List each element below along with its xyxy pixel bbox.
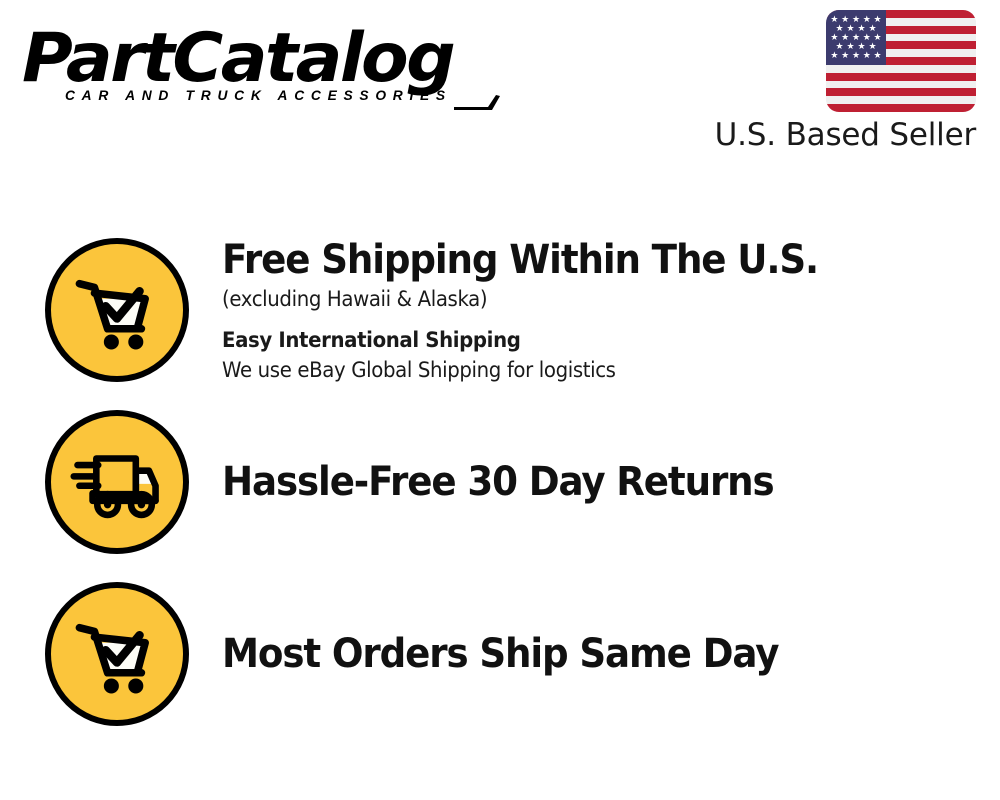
feature-text: Most Orders Ship Same Day xyxy=(222,630,1000,678)
us-flag-icon: ★★★★★ ★★★★ ★★★★★ ★★★★ ★★★★★ xyxy=(826,10,976,112)
feature-row: Hassle-Free 30 Day Returns xyxy=(0,408,1000,556)
us-based-seller-badge: ★★★★★ ★★★★ ★★★★★ ★★★★ ★★★★★ U.S. Based S… xyxy=(716,10,988,160)
shopping-cart-check-icon xyxy=(45,238,189,382)
feature-title: Hassle-Free 30 Day Returns xyxy=(222,458,927,506)
feature-subtitle: Easy International Shipping xyxy=(222,325,935,355)
feature-subtitle: We use eBay Global Shipping for logistic… xyxy=(222,355,935,385)
brand-swoosh-icon xyxy=(452,94,502,112)
brand-logo[interactable]: PartCatalog CAR AND TRUCK ACCESSORIES xyxy=(22,22,492,118)
feature-text: Hassle-Free 30 Day Returns xyxy=(222,458,1000,506)
feature-row: Free Shipping Within The U.S. (excluding… xyxy=(0,236,1000,384)
brand-tagline: CAR AND TRUCK ACCESSORIES xyxy=(65,88,452,103)
flag-star-row: ★★★★★ xyxy=(829,51,883,60)
feature-title: Free Shipping Within The U.S. xyxy=(222,236,927,284)
feature-text: Free Shipping Within The U.S. (excluding… xyxy=(222,236,1000,385)
feature-list: Free Shipping Within The U.S. (excluding… xyxy=(0,236,1000,752)
delivery-truck-icon xyxy=(45,410,189,554)
feature-subtitle: (excluding Hawaii & Alaska) xyxy=(222,284,935,314)
page-header: PartCatalog CAR AND TRUCK ACCESSORIES xyxy=(0,0,1000,180)
feature-title: Most Orders Ship Same Day xyxy=(222,630,927,678)
feature-row: Most Orders Ship Same Day xyxy=(0,580,1000,728)
seller-label: U.S. Based Seller xyxy=(715,117,976,153)
flag-canton: ★★★★★ ★★★★ ★★★★★ ★★★★ ★★★★★ xyxy=(826,10,886,65)
shopping-cart-check-icon xyxy=(45,582,189,726)
brand-wordmark: PartCatalog xyxy=(22,22,453,96)
